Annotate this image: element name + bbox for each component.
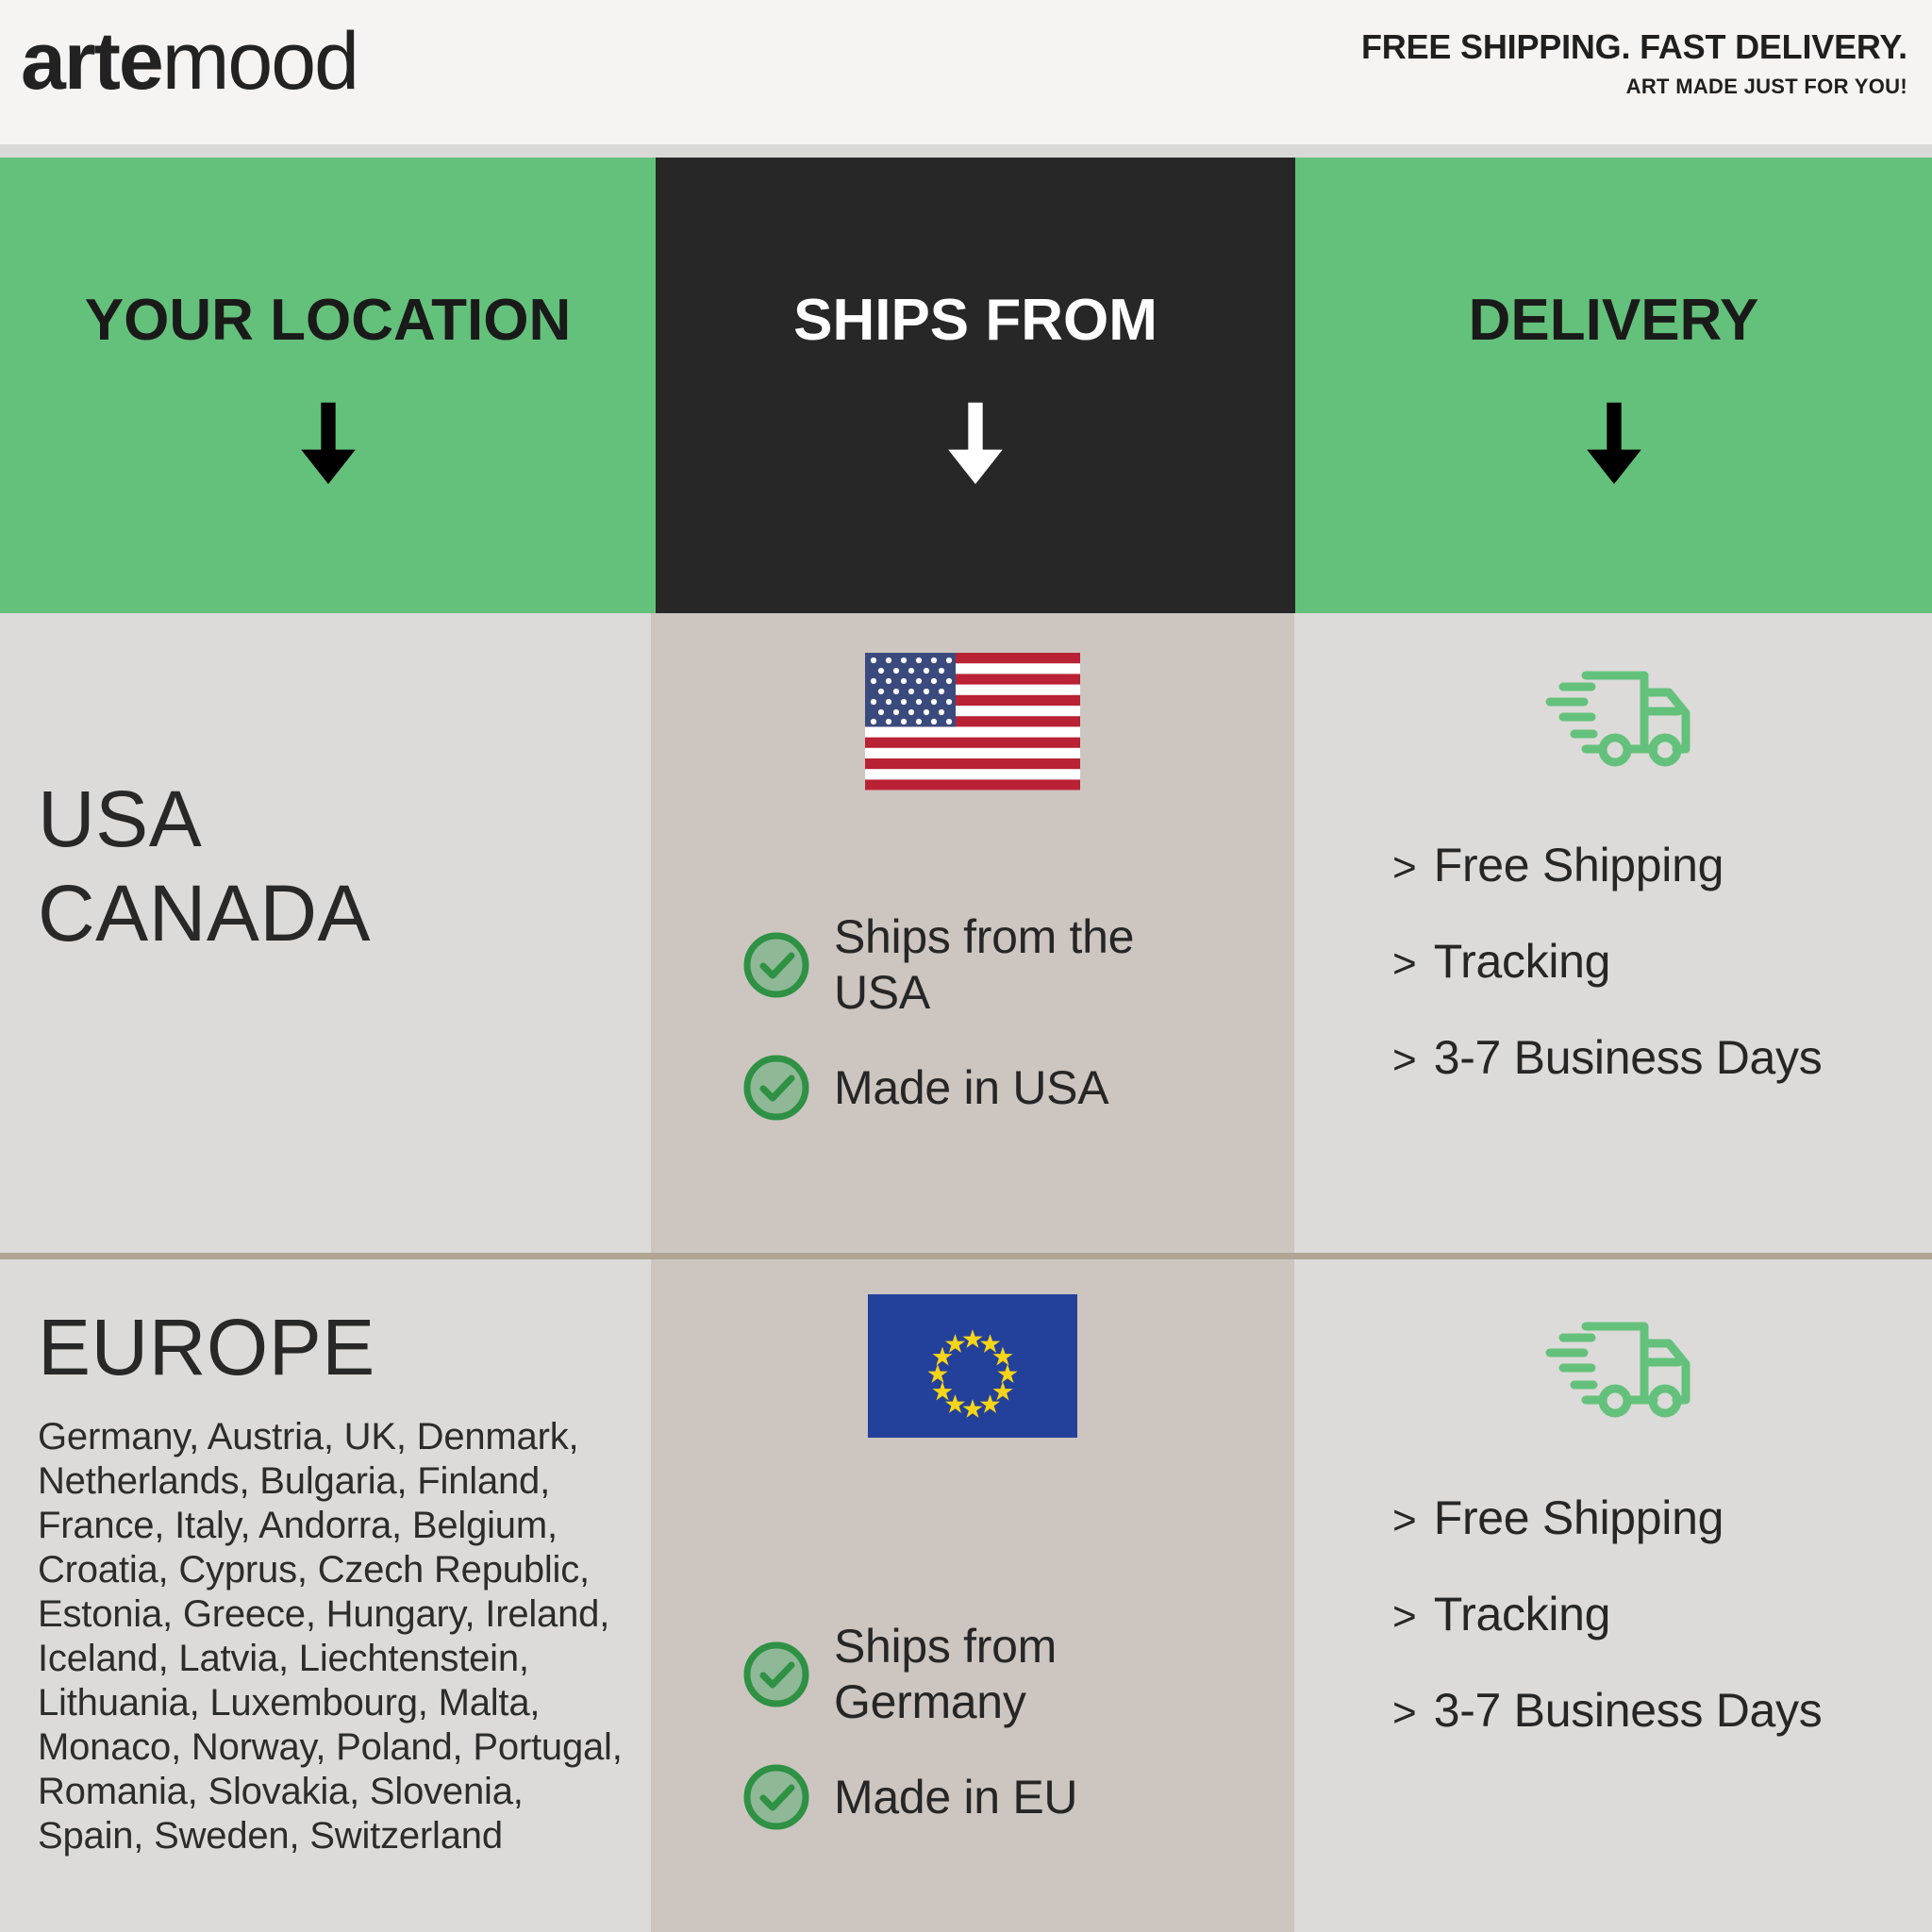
row-divider (0, 1253, 1932, 1259)
delivery-feature-list: > Free Shipping > Tracking > 3-7 Busines… (1294, 838, 1932, 1085)
list-item: > Free Shipping (1392, 838, 1932, 892)
delivery-cell: > Free Shipping > Tracking > 3-7 Busines… (1294, 1302, 1932, 1779)
check-circle-icon (741, 1053, 811, 1123)
caret-icon: > (1392, 943, 1417, 985)
caret-icon: > (1392, 1692, 1417, 1734)
column-header-ships-from: SHIPS FROM (656, 158, 1295, 613)
down-arrow-icon (1569, 397, 1659, 488)
us-flag-icon (865, 653, 1080, 791)
list-item: > 3-7 Business Days (1392, 1683, 1932, 1738)
caret-icon: > (1392, 1596, 1417, 1638)
ships-from-cell: Ships from the USA Made in USA (651, 653, 1294, 1155)
list-item: > 3-7 Business Days (1392, 1030, 1932, 1085)
caret-icon: > (1392, 1500, 1417, 1541)
check-circle-icon (741, 1762, 811, 1832)
delivery-cell: > Free Shipping > Tracking > 3-7 Busines… (1294, 651, 1932, 1126)
tagline-block: FREE SHIPPING. FAST DELIVERY. ART MADE J… (1361, 26, 1907, 102)
list-item: Ships from Germany (741, 1619, 1294, 1730)
artemood-logo[interactable]: artemood (21, 21, 358, 102)
list-item-label: Free Shipping (1434, 838, 1724, 892)
list-item-label: Tracking (1434, 934, 1610, 989)
delivery-feature-list: > Free Shipping > Tracking > 3-7 Busines… (1294, 1491, 1932, 1738)
list-item-label: Made in USA (834, 1060, 1108, 1116)
list-item: Ships from the USA (741, 909, 1294, 1021)
list-item-label: Tracking (1434, 1587, 1610, 1641)
list-item-label: Free Shipping (1434, 1491, 1724, 1545)
down-arrow-icon (283, 397, 374, 488)
caret-icon: > (1392, 1040, 1417, 1081)
location-title-line: EUROPE (38, 1300, 623, 1394)
column-headers-band: YOUR LOCATION SHIPS FROM DELIVERY (0, 158, 1932, 613)
location-title-line: CANADA (38, 866, 371, 960)
shipping-info-infographic: artemood FREE SHIPPING. FAST DELIVERY. A… (0, 0, 1932, 1932)
eu-flag-icon (868, 1294, 1077, 1438)
check-circle-icon (741, 1640, 811, 1709)
brand-bar-divider (0, 144, 1932, 158)
list-item: > Tracking (1392, 1587, 1932, 1641)
list-item-label: 3-7 Business Days (1434, 1683, 1823, 1738)
ships-from-checklist: Ships from Germany Made in EU (651, 1619, 1294, 1864)
list-item: Made in EU (741, 1762, 1294, 1832)
brand-header-bar: artemood FREE SHIPPING. FAST DELIVERY. A… (0, 0, 1932, 144)
list-item-label: Made in EU (834, 1770, 1077, 1825)
list-item: Made in USA (741, 1053, 1294, 1123)
check-circle-icon (741, 930, 811, 1000)
column-header-label: YOUR LOCATION (85, 288, 572, 354)
column-header-delivery: DELIVERY (1295, 158, 1932, 613)
caret-icon: > (1392, 847, 1417, 889)
country-list: Germany, Austria, UK, Denmark, Netherlan… (38, 1415, 623, 1858)
ships-from-checklist: Ships from the USA Made in USA (651, 909, 1294, 1155)
list-item-label: Ships from Germany (834, 1619, 1136, 1730)
delivery-truck-icon (1294, 1302, 1932, 1424)
list-item: > Free Shipping (1392, 1491, 1932, 1545)
tagline-secondary: ART MADE JUST FOR YOU! (1361, 72, 1907, 102)
tagline-primary: FREE SHIPPING. FAST DELIVERY. (1361, 26, 1907, 68)
column-header-label: DELIVERY (1469, 288, 1759, 354)
column-header-your-location: YOUR LOCATION (0, 158, 656, 613)
column-header-label: SHIPS FROM (793, 288, 1158, 354)
down-arrow-icon (930, 397, 1021, 488)
logo-bold-part: arte (21, 16, 162, 107)
ships-from-cell: Ships from Germany Made in EU (651, 1294, 1294, 1864)
list-item: > Tracking (1392, 934, 1932, 989)
table-row: USA CANADA (38, 772, 371, 960)
location-title-line: USA (38, 772, 371, 866)
shipping-table-body: USA CANADA (0, 613, 1932, 1932)
delivery-truck-icon (1294, 651, 1932, 774)
list-item-label: Ships from the USA (834, 909, 1145, 1021)
list-item-label: 3-7 Business Days (1434, 1030, 1823, 1085)
logo-light-part: mood (162, 16, 358, 107)
table-row: EUROPE Germany, Austria, UK, Denmark, Ne… (38, 1300, 623, 1858)
